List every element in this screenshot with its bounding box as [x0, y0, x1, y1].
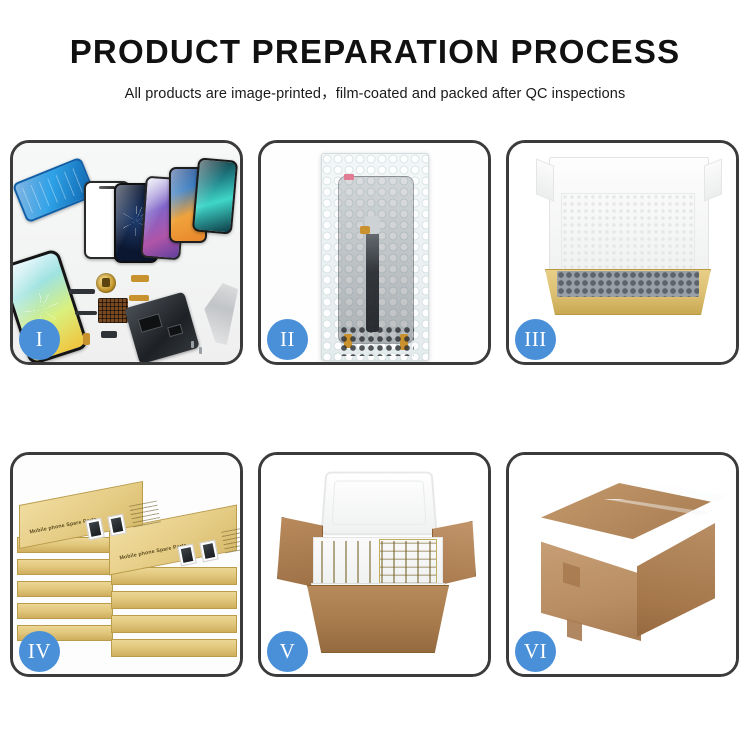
- speaker-coil-part-image: [96, 273, 116, 293]
- header: PRODUCT PREPARATION PROCESS All products…: [0, 32, 750, 103]
- step-badge-5: V: [267, 631, 308, 672]
- step-panel-2[interactable]: II: [258, 140, 491, 365]
- step-panel-6[interactable]: VI: [506, 452, 739, 677]
- stacked-box: [111, 615, 237, 633]
- carton-front-face: [541, 533, 641, 641]
- small-strip-part-image: [75, 311, 97, 315]
- step-badge-4: IV: [19, 631, 60, 672]
- step-badge-2: II: [267, 319, 308, 360]
- step-panel-5[interactable]: V: [258, 452, 491, 677]
- page-subtitle: All products are image-printed，film-coat…: [0, 82, 750, 103]
- page-title: PRODUCT PREPARATION PROCESS: [0, 32, 750, 72]
- flex-cable-image: [366, 232, 379, 332]
- carton-tab-image: [567, 619, 582, 642]
- stacked-box: [17, 581, 113, 597]
- flex-cable-part-image: [131, 275, 149, 282]
- small-flex-part-image: [83, 333, 90, 345]
- steps-grid: I II: [10, 140, 740, 680]
- chip-array-part-image: [98, 298, 128, 323]
- stacked-box: [111, 591, 237, 609]
- step-panel-3[interactable]: III: [506, 140, 739, 365]
- logic-board-image: [124, 292, 200, 362]
- bubble-wrap-bag-image: [321, 153, 429, 361]
- stacked-box: [17, 559, 113, 575]
- step-panel-4[interactable]: Mobile phone Spare Parts Mobile phone Sp…: [10, 452, 243, 677]
- connector-part-image: [101, 331, 117, 338]
- stacked-box: [111, 639, 237, 657]
- stacked-box: [17, 603, 113, 619]
- packed-boxes-image: [379, 539, 437, 585]
- screw-part-image: [199, 347, 202, 354]
- pink-label-image: [344, 174, 354, 180]
- teal-phone-image: [192, 157, 238, 234]
- carton-body-image: [307, 585, 449, 653]
- foam-lid-image: [320, 472, 437, 536]
- product-preparation-infographic: PRODUCT PREPARATION PROCESS All products…: [0, 0, 750, 750]
- screw-part-image: [191, 341, 194, 348]
- step-badge-1: I: [19, 319, 60, 360]
- tweezers-image: [198, 283, 238, 345]
- bubble-wrapped-units-image: [557, 271, 699, 297]
- carton-side-face: [637, 523, 715, 637]
- antenna-strip-part-image: [69, 289, 95, 294]
- sealed-carton-image: [519, 477, 725, 653]
- flex-cable-part-image: [129, 295, 149, 301]
- gold-connector-image: [360, 226, 370, 234]
- component-cluster-image: [340, 326, 414, 356]
- box-spec-checklist: [221, 527, 240, 554]
- step-badge-3: III: [515, 319, 556, 360]
- step-panel-1[interactable]: I: [10, 140, 243, 365]
- step-badge-6: VI: [515, 631, 556, 672]
- foam-sheet-image: [561, 193, 695, 271]
